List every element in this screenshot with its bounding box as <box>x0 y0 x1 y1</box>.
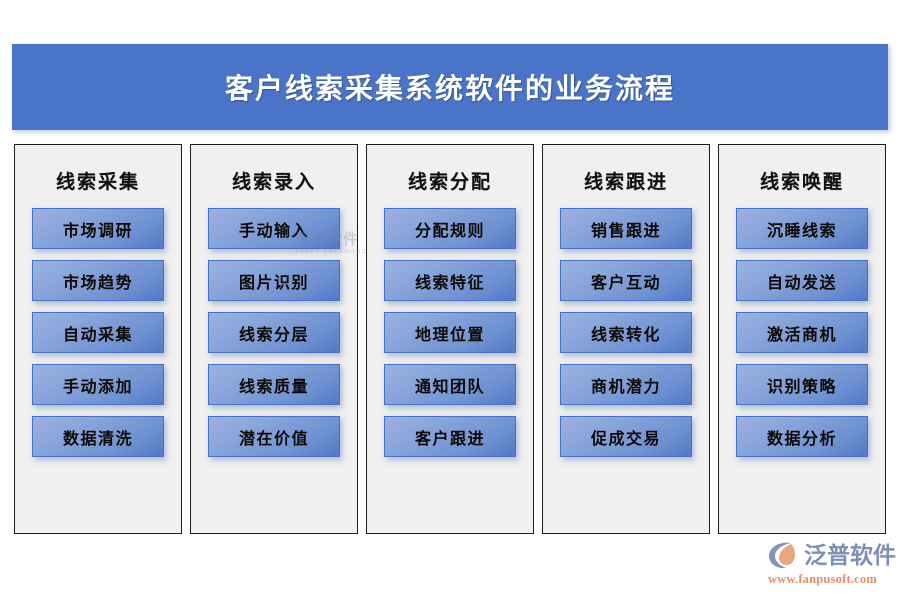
process-column-3: 线索分配 分配规则 线索特征 地理位置 通知团队 客户跟进 <box>366 144 534 534</box>
process-item[interactable]: 线索转化 <box>560 312 692 353</box>
process-item[interactable]: 客户跟进 <box>384 416 516 457</box>
column-header: 线索分配 <box>408 167 492 194</box>
process-column-2: 线索录入 手动输入 图片识别 线索分层 线索质量 潜在价值 <box>190 144 358 534</box>
column-items: 手动输入 图片识别 线索分层 线索质量 潜在价值 <box>191 208 357 457</box>
process-item[interactable]: 线索特征 <box>384 260 516 301</box>
column-header: 线索跟进 <box>584 167 668 194</box>
process-column-1: 线索采集 市场调研 市场趋势 自动采集 手动添加 数据清洗 <box>14 144 182 534</box>
process-item[interactable]: 图片识别 <box>208 260 340 301</box>
logo-name: 泛普软件 <box>804 544 896 567</box>
process-item[interactable]: 手动输入 <box>208 208 340 249</box>
process-item[interactable]: 线索分层 <box>208 312 340 353</box>
process-item[interactable]: 激活商机 <box>736 312 868 353</box>
logo-top-row: 泛普软件 <box>766 540 896 570</box>
process-column-4: 线索跟进 销售跟进 客户互动 线索转化 商机潜力 促成交易 <box>542 144 710 534</box>
process-item[interactable]: 数据清洗 <box>32 416 164 457</box>
process-item[interactable]: 沉睡线索 <box>736 208 868 249</box>
process-item[interactable]: 客户互动 <box>560 260 692 301</box>
logo-url[interactable]: www.fanpusoft.com <box>768 572 877 587</box>
process-item[interactable]: 手动添加 <box>32 364 164 405</box>
column-header: 线索唤醒 <box>760 167 844 194</box>
process-item[interactable]: 市场趋势 <box>32 260 164 301</box>
brand-logo[interactable]: 泛普软件 www.fanpusoft.com <box>766 540 892 590</box>
process-column-5: 线索唤醒 沉睡线索 自动发送 激活商机 识别策略 数据分析 <box>718 144 886 534</box>
title-banner: 客户线索采集系统软件的业务流程 <box>12 44 888 130</box>
column-items: 分配规则 线索特征 地理位置 通知团队 客户跟进 <box>367 208 533 457</box>
column-items: 沉睡线索 自动发送 激活商机 识别策略 数据分析 <box>719 208 885 457</box>
column-header: 线索录入 <box>232 167 316 194</box>
process-item[interactable]: 销售跟进 <box>560 208 692 249</box>
process-item[interactable]: 分配规则 <box>384 208 516 249</box>
process-columns: 线索采集 市场调研 市场趋势 自动采集 手动添加 数据清洗 线索录入 手动输入 … <box>14 144 886 534</box>
process-item[interactable]: 促成交易 <box>560 416 692 457</box>
process-item[interactable]: 地理位置 <box>384 312 516 353</box>
process-item[interactable]: 识别策略 <box>736 364 868 405</box>
column-items: 市场调研 市场趋势 自动采集 手动添加 数据清洗 <box>15 208 181 457</box>
diagram-canvas: 客户线索采集系统软件的业务流程 线索采集 市场调研 市场趋势 自动采集 手动添加… <box>0 0 900 600</box>
page-title: 客户线索采集系统软件的业务流程 <box>225 67 675 107</box>
fanpu-logo-mark-icon <box>766 540 800 570</box>
process-item[interactable]: 市场调研 <box>32 208 164 249</box>
process-item[interactable]: 线索质量 <box>208 364 340 405</box>
process-item[interactable]: 潜在价值 <box>208 416 340 457</box>
process-item[interactable]: 自动采集 <box>32 312 164 353</box>
column-items: 销售跟进 客户互动 线索转化 商机潜力 促成交易 <box>543 208 709 457</box>
process-item[interactable]: 自动发送 <box>736 260 868 301</box>
column-header: 线索采集 <box>56 167 140 194</box>
process-item[interactable]: 商机潜力 <box>560 364 692 405</box>
process-item[interactable]: 数据分析 <box>736 416 868 457</box>
process-item[interactable]: 通知团队 <box>384 364 516 405</box>
